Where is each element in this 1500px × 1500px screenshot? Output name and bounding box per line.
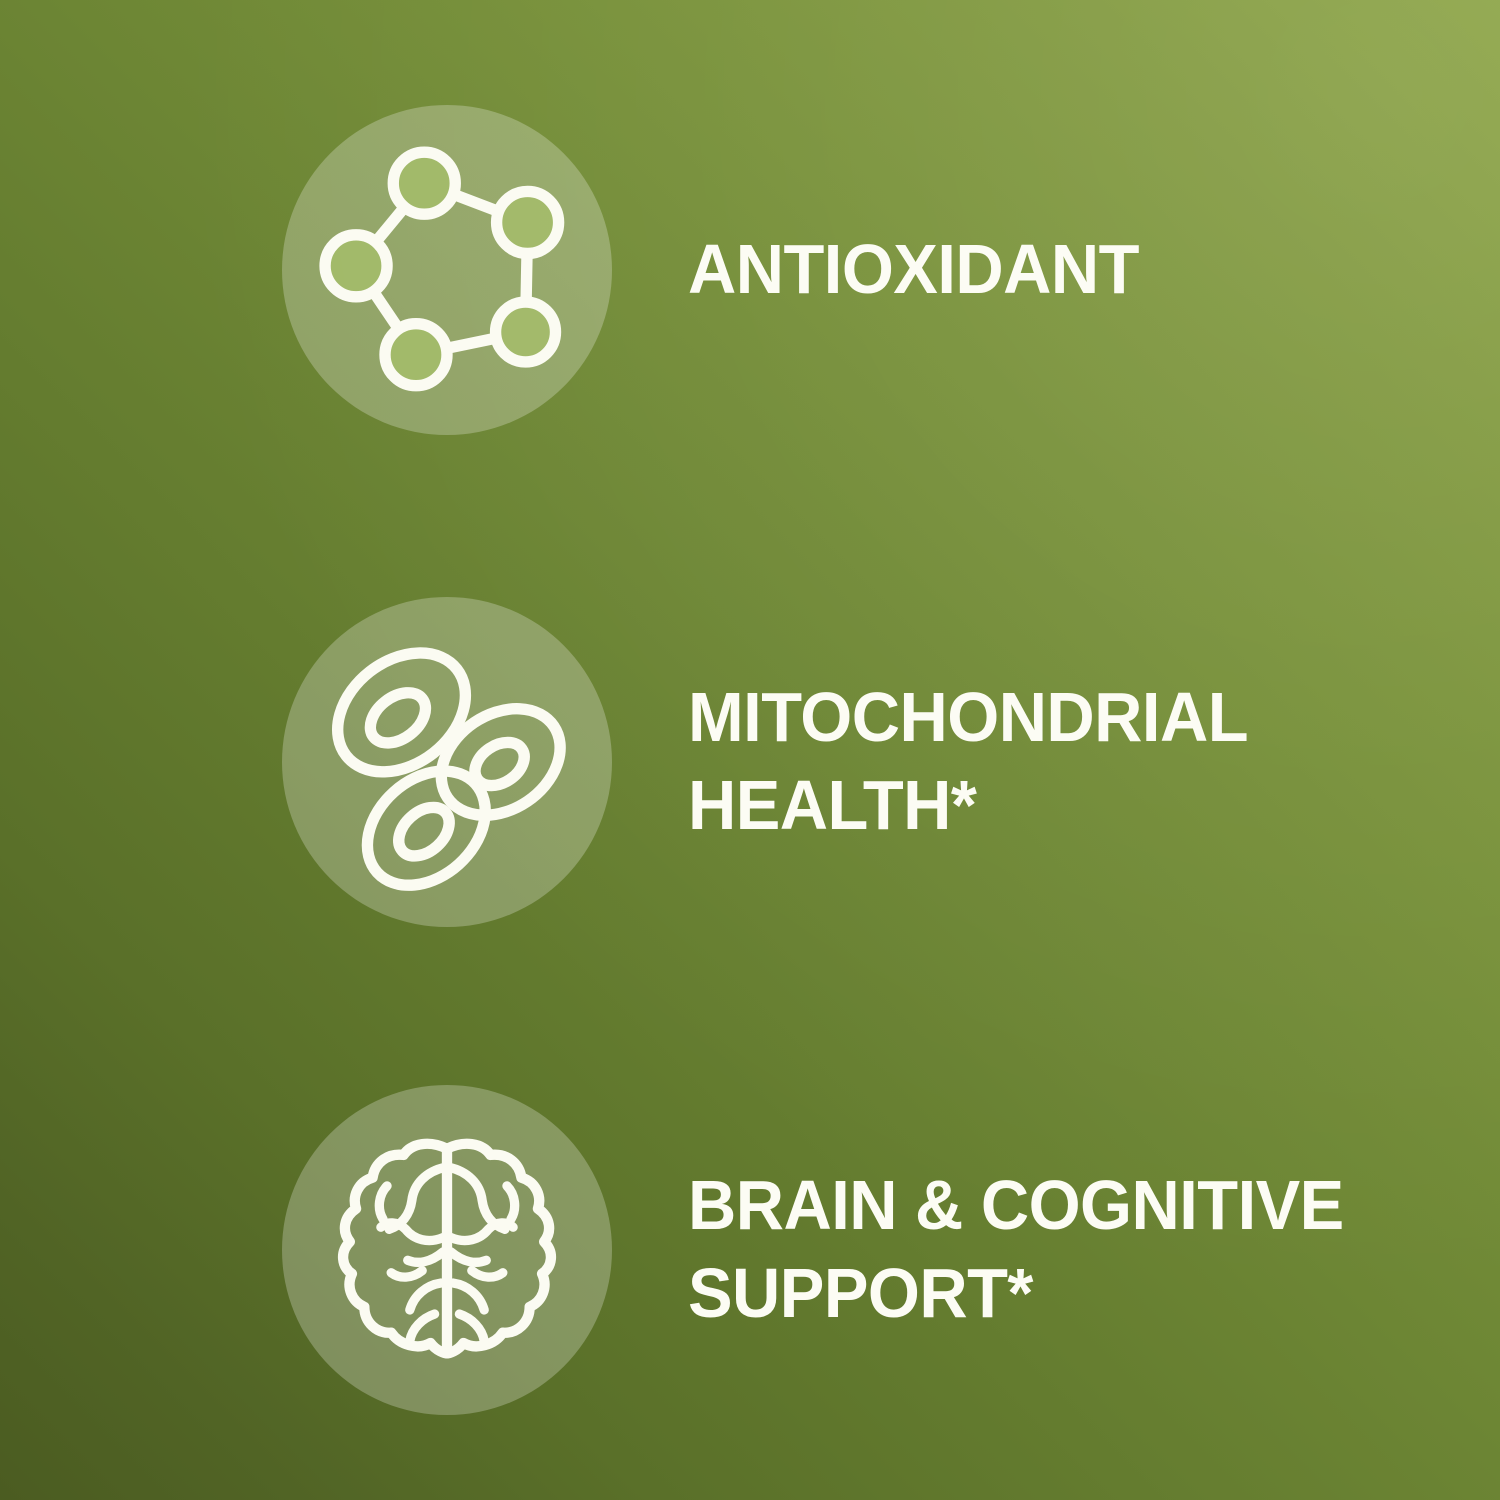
- feature-label-brain-cognitive-support: BRAIN & COGNITIVE SUPPORT*: [688, 1162, 1344, 1338]
- brain-icon: [323, 1126, 571, 1374]
- molecule-network-icon: [323, 146, 571, 394]
- icon-badge-mitochondrial-health: [282, 597, 612, 927]
- mitochondria-cells-icon: [323, 638, 571, 886]
- benefits-panel: ANTIOXIDANT MIT: [0, 0, 1500, 1500]
- icon-badge-brain-cognitive-support: [282, 1085, 612, 1415]
- feature-row-brain-cognitive-support: BRAIN & COGNITIVE SUPPORT*: [0, 1085, 1500, 1415]
- feature-label-mitochondrial-health: MITOCHONDRIAL HEALTH*: [688, 674, 1248, 850]
- feature-label-antioxidant: ANTIOXIDANT: [688, 226, 1139, 314]
- icon-badge-antioxidant: [282, 105, 612, 435]
- feature-row-antioxidant: ANTIOXIDANT: [0, 105, 1500, 435]
- feature-row-mitochondrial-health: MITOCHONDRIAL HEALTH*: [0, 597, 1500, 927]
